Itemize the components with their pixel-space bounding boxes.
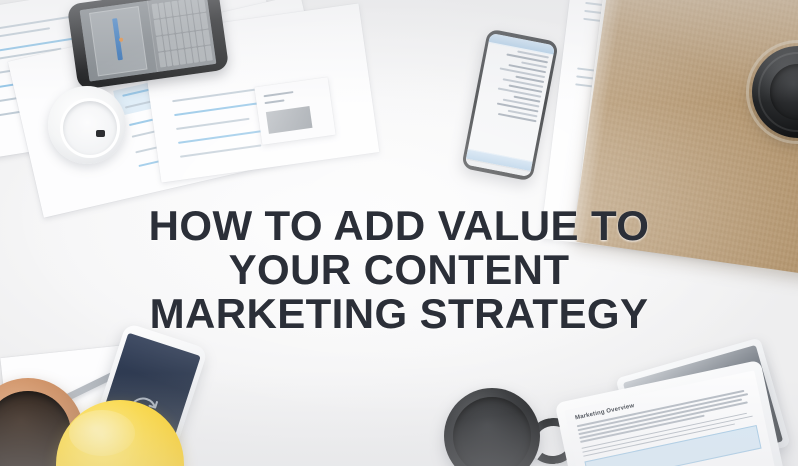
headline-line-2: YOUR CONTENT	[0, 248, 798, 292]
onscreen-keyboard[interactable]	[148, 0, 217, 72]
headline-line-1: HOW TO ADD VALUE TO	[0, 204, 798, 248]
headline-line-3: MARKETING STRATEGY	[0, 292, 798, 336]
tablet-screen[interactable]: Marketing Overview	[564, 370, 781, 466]
paper-card	[254, 77, 335, 145]
black-coffee-mug	[444, 388, 540, 466]
document-pane	[80, 1, 158, 82]
flat-lay-scene: Marketing Overview HOW TO ADD VALUE TO Y…	[0, 0, 798, 466]
phone-screen[interactable]	[80, 0, 217, 82]
smartphone-center-portrait[interactable]	[461, 28, 559, 181]
page-title: HOW TO ADD VALUE TO YOUR CONTENT MARKETI…	[0, 204, 798, 336]
phone-screen[interactable]	[465, 33, 555, 177]
lid-drink-tab	[96, 130, 105, 137]
coffee-cup-lid-black	[752, 46, 798, 138]
coffee-cup-lid-white	[48, 86, 126, 164]
card-chip	[266, 106, 313, 134]
list-rows[interactable]	[468, 43, 553, 162]
